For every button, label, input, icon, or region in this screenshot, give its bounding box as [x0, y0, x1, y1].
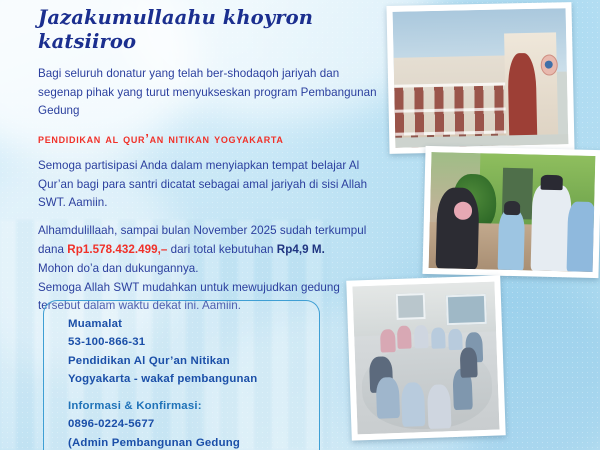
info-label: Informasi & Konfirmasi:	[68, 397, 319, 415]
contact-card: Muamalat 53-100-866-31 Pendidikan Al Qur…	[43, 300, 320, 450]
bank-name: Muamalat	[68, 315, 319, 333]
progress-middle-text: dari total kebutuhan	[167, 243, 276, 256]
progress-tail-line-1: Mohon do’a dan dukungannya.	[38, 262, 199, 275]
institution-heading: Pendidikan Al Qur’an Nitikan Yogyakarta	[38, 130, 383, 148]
intro-paragraph: Bagi seluruh donatur yang telah ber-shod…	[38, 65, 383, 121]
target-amount: Rp4,9 M.	[277, 243, 325, 256]
account-holder-line-2: Yogyakarta - wakaf pembangunan	[68, 370, 319, 388]
bank-account-number[interactable]: 53-100-866-31	[68, 333, 319, 351]
handshake-donation-photo	[422, 146, 600, 278]
body-paragraph-1: Semoga partisipasi Anda dalam menyiapkan…	[38, 157, 383, 213]
admin-line-1: (Admin Pembangunan Gedung	[68, 434, 319, 450]
building-rendering-photo	[386, 2, 574, 154]
poster-canvas: Jazakumullaahu khoyron katsiiroo Bagi se…	[0, 0, 600, 450]
collected-amount: Rp1.578.432.499,–	[67, 243, 167, 256]
card-spacer	[68, 388, 319, 397]
contact-phone-number[interactable]: 0896-0224-5677	[68, 415, 319, 433]
headline: Jazakumullaahu khoyron katsiiroo	[38, 6, 383, 55]
account-holder-line-1: Pendidikan Al Qur’an Nitikan	[68, 352, 319, 370]
poster-text-column: Jazakumullaahu khoyron katsiiroo Bagi se…	[38, 6, 383, 325]
